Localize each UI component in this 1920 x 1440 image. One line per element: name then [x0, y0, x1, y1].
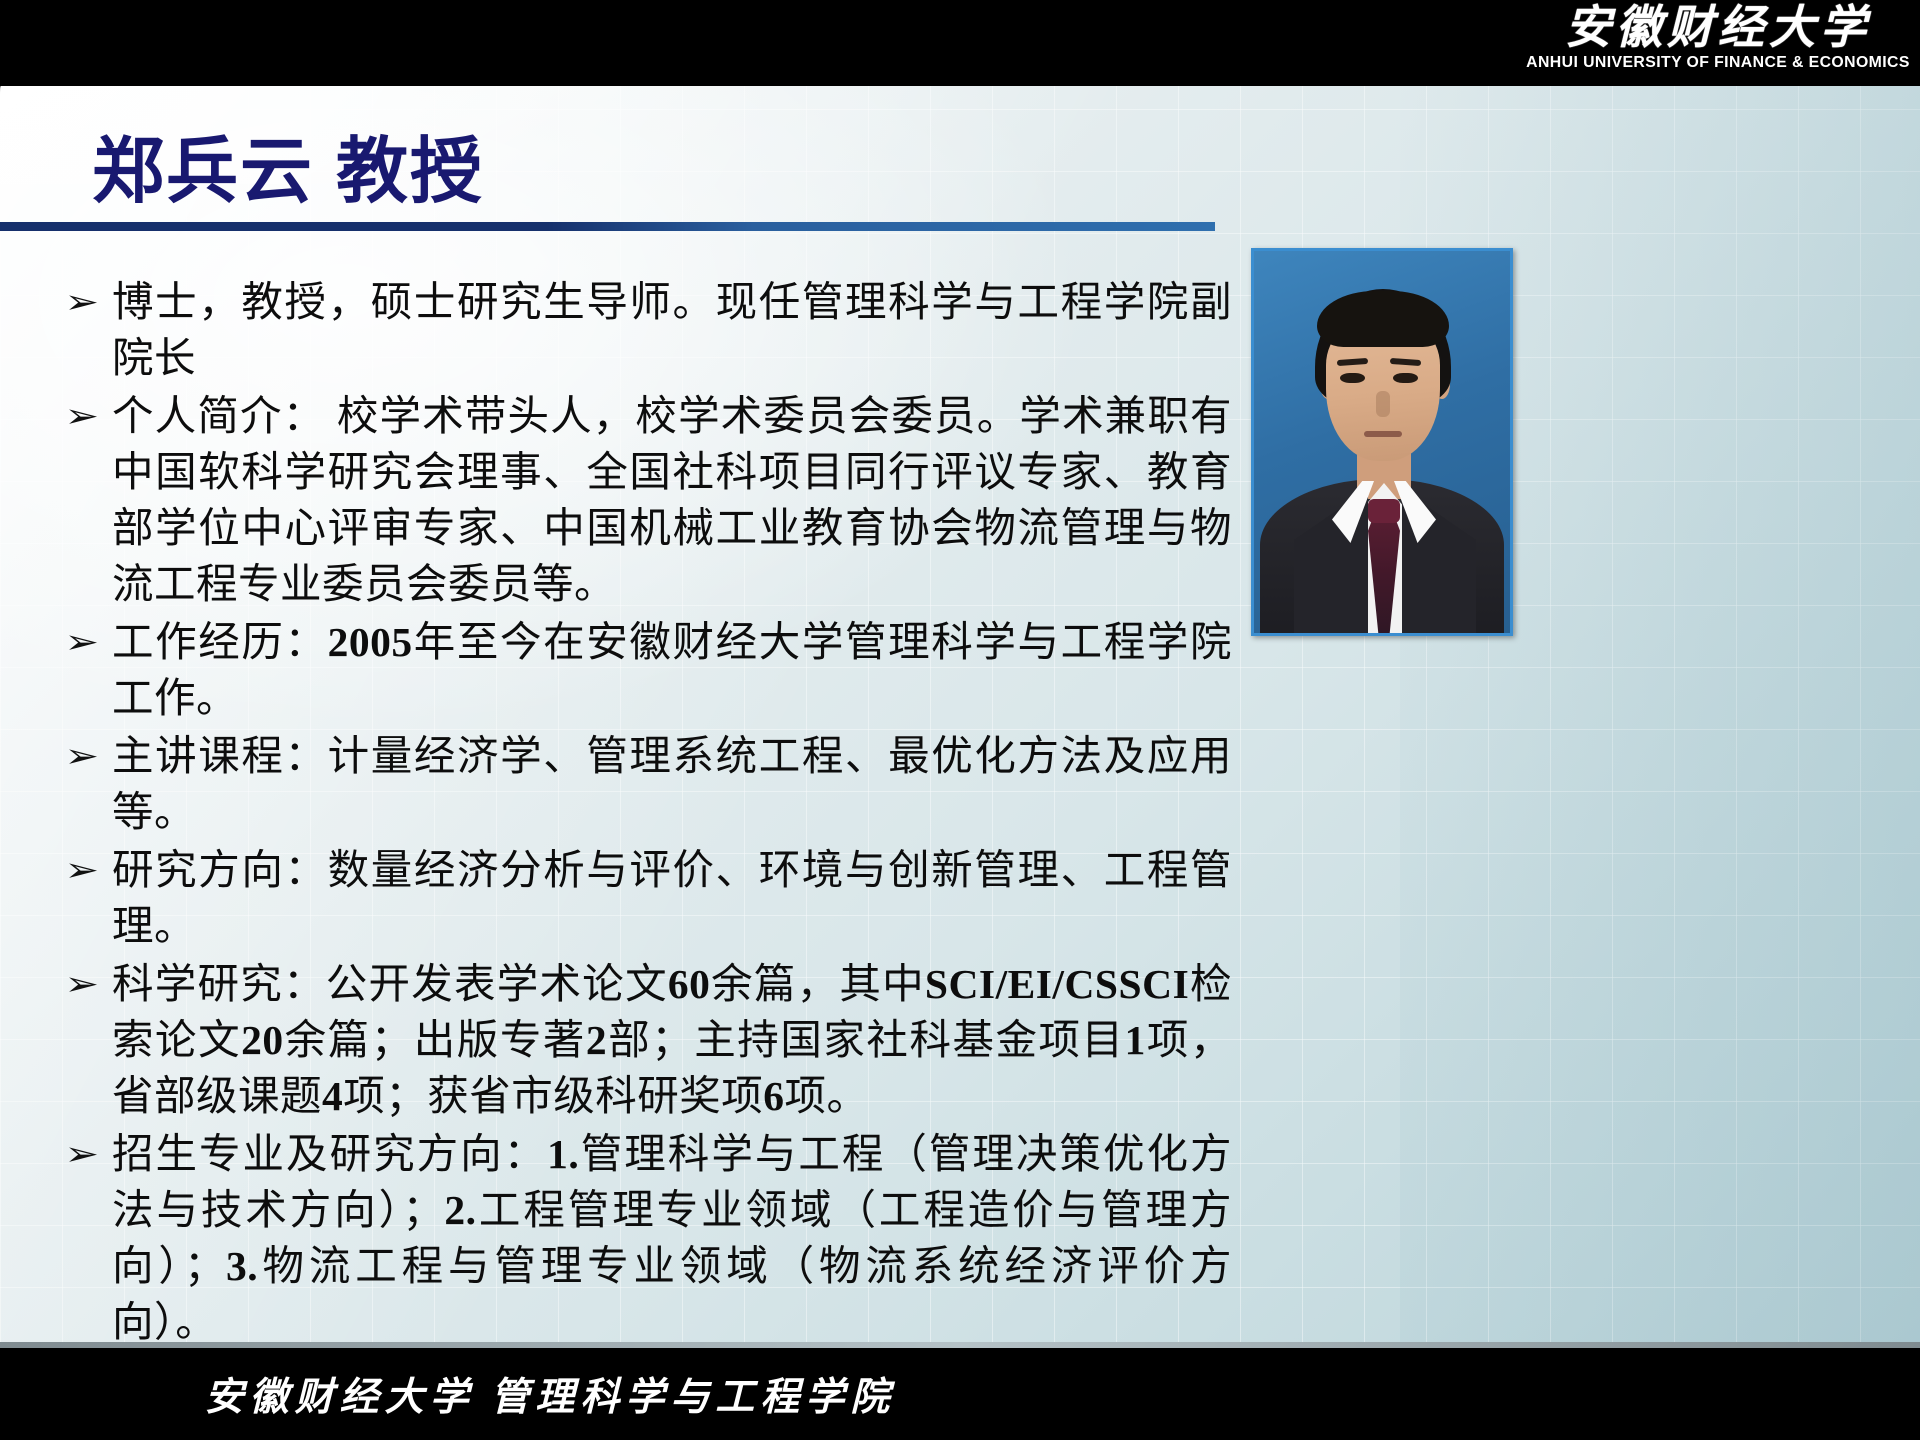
- arrow-bullet-icon: ➢: [52, 388, 127, 444]
- arrow-bullet-icon: ➢: [52, 614, 127, 670]
- logo-english-text: ANHUI UNIVERSITY OF FINANCE & ECONOMICS: [1524, 54, 1912, 72]
- slide-root: 安徽财经大学 ANHUI UNIVERSITY OF FINANCE & ECO…: [0, 0, 1920, 1440]
- bullet-admissions: ➢ 招生专业及研究方向：1.管理科学与工程（管理决策优化方法与技术方向）；2.工…: [52, 1126, 1232, 1350]
- bullet-experience-text: 工作经历：2005年至今在安徽财经大学管理科学与工程学院工作。: [112, 614, 1232, 726]
- bullet-courses: ➢ 主讲课程：计量经济学、管理系统工程、最优化方法及应用等。: [52, 728, 1232, 840]
- photo-eye-right: [1393, 373, 1418, 383]
- arrow-bullet-icon: ➢: [52, 956, 127, 1012]
- portrait-photo: [1251, 248, 1513, 636]
- arrow-bullet-icon: ➢: [52, 842, 127, 898]
- bullet-courses-text: 主讲课程：计量经济学、管理系统工程、最优化方法及应用等。: [112, 728, 1232, 840]
- bullet-research-areas: ➢ 研究方向：数量经济分析与评价、环境与创新管理、工程管理。: [52, 842, 1232, 954]
- bullet-scientific-research-text: 科学研究：公开发表学术论文60余篇，其中SCI/EI/CSSCI检索论文20余篇…: [112, 956, 1232, 1124]
- page-title: 郑兵云 教授: [92, 112, 484, 217]
- bullet-scientific-research: ➢ 科学研究：公开发表学术论文60余篇，其中SCI/EI/CSSCI检索论文20…: [52, 956, 1232, 1124]
- photo-hair-fringe: [1317, 291, 1449, 347]
- arrow-bullet-icon: ➢: [52, 1126, 127, 1182]
- content-panel: 郑兵云 教授 ➢ 博士，教授，硕士研究生导师。现任管理科学与工程学院副院长 ➢ …: [0, 34, 1920, 1350]
- bullet-list: ➢ 博士，教授，硕士研究生导师。现任管理科学与工程学院副院长 ➢ 个人简介： 校…: [52, 274, 1232, 1350]
- bullet-admissions-text: 招生专业及研究方向：1.管理科学与工程（管理决策优化方法与技术方向）；2.工程管…: [112, 1126, 1232, 1350]
- logo-chinese-text: 安徽财经大学: [1528, 2, 1908, 54]
- bullet-research-areas-text: 研究方向：数量经济分析与评价、环境与创新管理、工程管理。: [112, 842, 1232, 954]
- arrow-bullet-icon: ➢: [52, 728, 127, 784]
- bullet-experience: ➢ 工作经历：2005年至今在安徽财经大学管理科学与工程学院工作。: [52, 614, 1232, 726]
- panel-right-shade: [1400, 34, 1920, 1350]
- photo-eye-left: [1340, 373, 1365, 383]
- bullet-profile-text: 个人简介： 校学术带头人，校学术委员会委员。学术兼职有中国软科学研究会理事、全国…: [112, 388, 1232, 612]
- photo-necktie-knot: [1368, 499, 1400, 523]
- bullet-credentials: ➢ 博士，教授，硕士研究生导师。现任管理科学与工程学院副院长: [52, 274, 1232, 386]
- bullet-profile: ➢ 个人简介： 校学术带头人，校学术委员会委员。学术兼职有中国软科学研究会理事、…: [52, 388, 1232, 612]
- bullet-credentials-text: 博士，教授，硕士研究生导师。现任管理科学与工程学院副院长: [112, 274, 1232, 386]
- photo-mouth: [1364, 431, 1402, 437]
- university-logo: 安徽财经大学 ANHUI UNIVERSITY OF FINANCE & ECO…: [1528, 2, 1908, 84]
- title-underline-rule: [0, 222, 1215, 231]
- photo-nose: [1376, 391, 1390, 417]
- footer-text: 安徽财经大学 管理科学与工程学院: [0, 1348, 1100, 1440]
- arrow-bullet-icon: ➢: [52, 274, 127, 330]
